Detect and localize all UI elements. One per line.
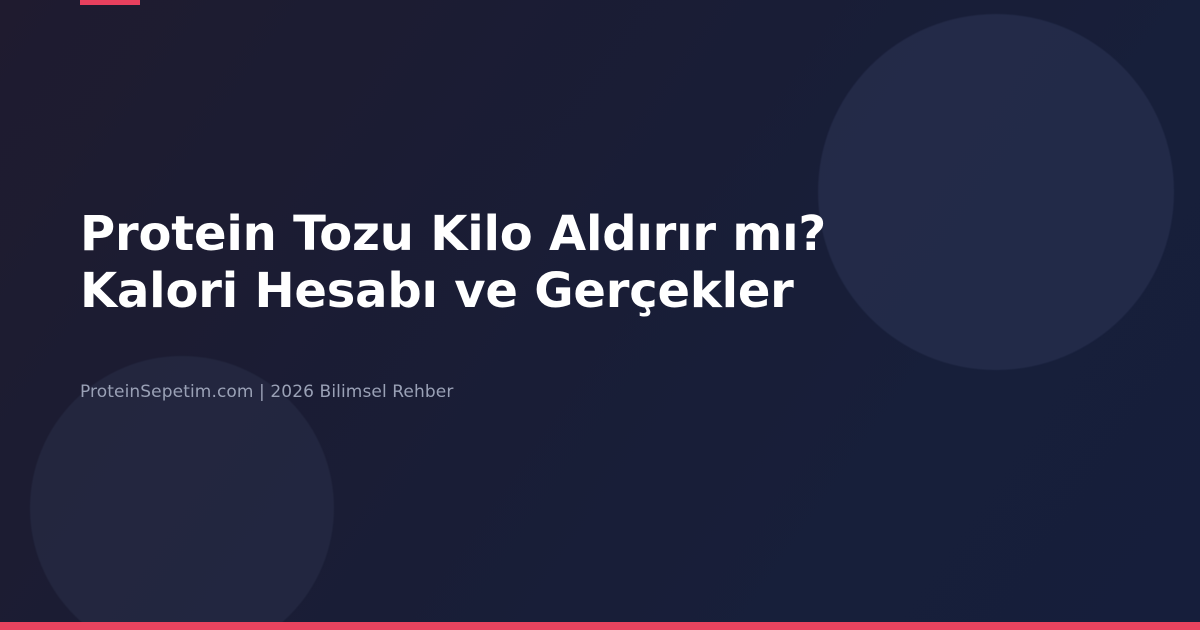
social-share-card: Protein Tozu Kilo Aldırır mı? Kalori Hes… [0, 0, 1200, 630]
page-title: Protein Tozu Kilo Aldırır mı? Kalori Hes… [80, 206, 980, 320]
top-accent-bar [80, 0, 140, 5]
card-subtitle: ProteinSepetim.com | 2026 Bilimsel Rehbe… [80, 320, 1090, 404]
bottom-accent-bar [0, 622, 1200, 630]
card-content: Protein Tozu Kilo Aldırır mı? Kalori Hes… [80, 206, 1090, 404]
